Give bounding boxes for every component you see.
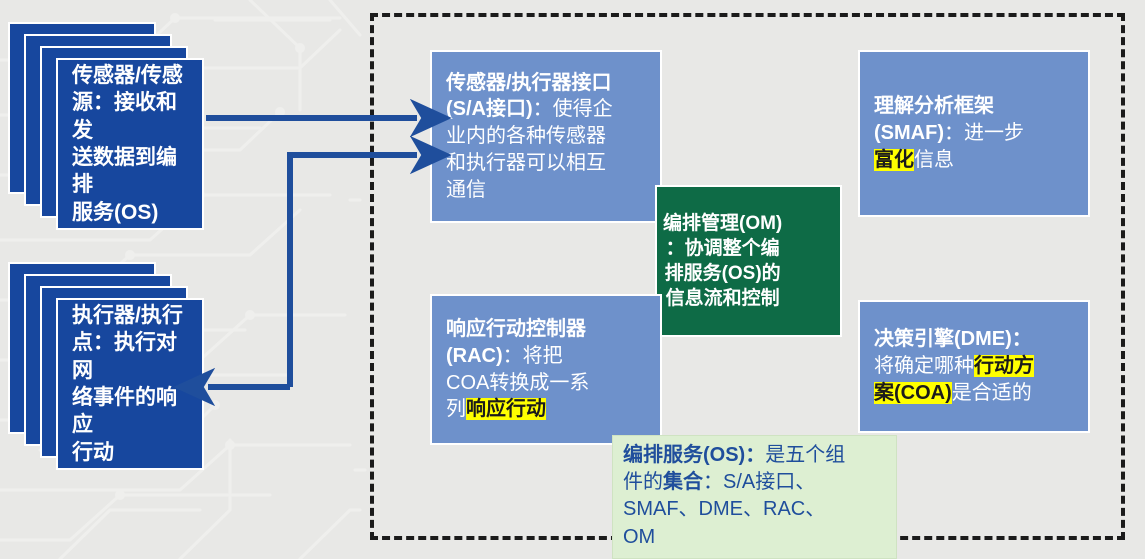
sensor-source-stack[interactable]: 传感器/传感源：接收和发送数据到编排服务(OS) bbox=[8, 22, 208, 242]
dme-text: 决策引擎(DME)：将确定哪种行动方案(COA)是合适的 bbox=[860, 326, 1044, 406]
sensor-source-card[interactable]: 传感器/传感源：接收和发送数据到编排服务(OS) bbox=[56, 58, 204, 230]
sa-interface-text: 传感器/执行器接口(S/A接口)：使得企业内的各种传感器和执行器可以相互通信 bbox=[432, 70, 623, 204]
orchestration-service-summary[interactable]: 编排服务(OS)：是五个组件的集合：S/A接口、SMAF、DME、RAC、OM bbox=[612, 435, 897, 559]
actuator-point-card[interactable]: 执行器/执行点：执行对网络事件的响应行动 bbox=[56, 298, 204, 470]
om-text: 编排管理(OM)：协调整个编排服务(OS)的信息流和控制 bbox=[657, 211, 788, 311]
rac-text: 响应行动控制器(RAC)：将把COA转换成一系列响应行动 bbox=[432, 316, 599, 423]
sensor-source-text: 传感器/传感源：接收和发送数据到编排服务(OS) bbox=[58, 62, 202, 226]
component-smaf[interactable]: 理解分析框架(SMAF)：进一步富化信息 bbox=[858, 50, 1090, 217]
component-rac[interactable]: 响应行动控制器(RAC)：将把COA转换成一系列响应行动 bbox=[430, 294, 662, 445]
diagram-canvas: 传感器/传感源：接收和发送数据到编排服务(OS) 执行器/执行点：执行对网络事件… bbox=[0, 0, 1145, 559]
os-summary-text: 编排服务(OS)：是五个组件的集合：S/A接口、SMAF、DME、RAC、OM bbox=[613, 436, 853, 551]
smaf-text: 理解分析框架(SMAF)：进一步富化信息 bbox=[860, 93, 1034, 173]
actuator-point-stack[interactable]: 执行器/执行点：执行对网络事件的响应行动 bbox=[8, 262, 208, 482]
component-dme[interactable]: 决策引擎(DME)：将确定哪种行动方案(COA)是合适的 bbox=[858, 300, 1090, 433]
actuator-point-text: 执行器/执行点：执行对网络事件的响应行动 bbox=[58, 302, 202, 466]
component-om[interactable]: 编排管理(OM)：协调整个编排服务(OS)的信息流和控制 bbox=[655, 185, 842, 337]
component-sa-interface[interactable]: 传感器/执行器接口(S/A接口)：使得企业内的各种传感器和执行器可以相互通信 bbox=[430, 50, 662, 223]
